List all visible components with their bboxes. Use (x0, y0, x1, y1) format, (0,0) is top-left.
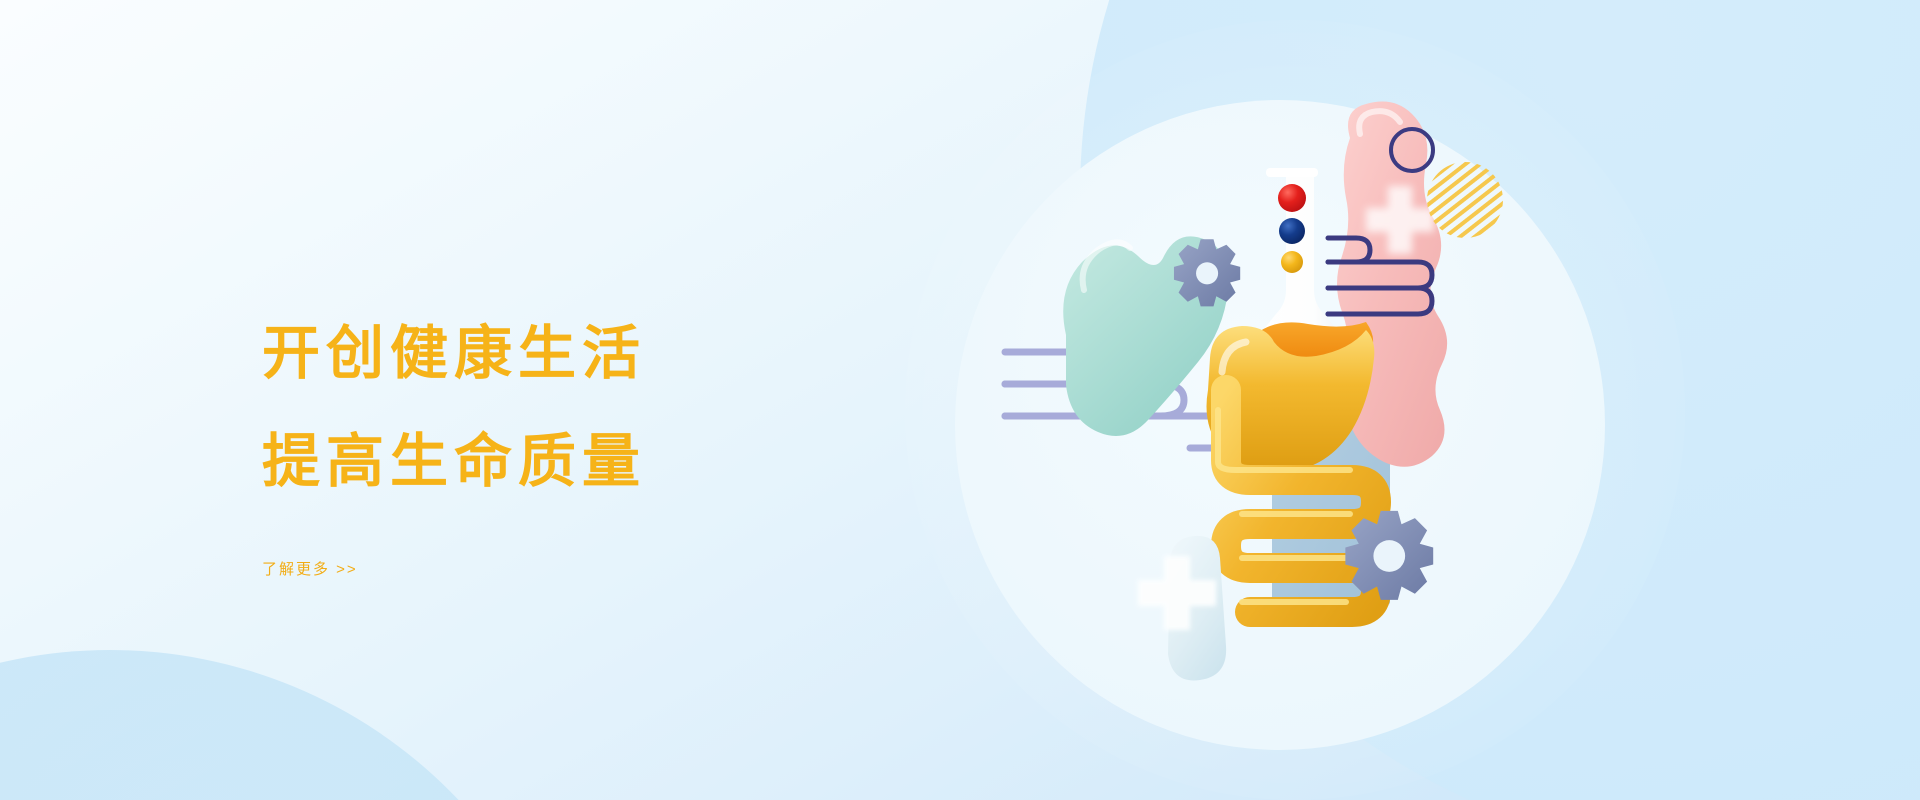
learn-more-link[interactable]: 了解更多 >> (262, 558, 358, 579)
headline-line-2: 提高生命质量 (262, 408, 882, 516)
headline-line-1: 开创健康生活 (262, 300, 882, 408)
test-tube-dot-navy-icon (1279, 218, 1305, 244)
test-tube-rim (1266, 168, 1318, 177)
banner-copy: 开创健康生活 提高生命质量 了解更多 >> (262, 300, 882, 579)
digestive-system-illustration (1060, 90, 1580, 740)
test-tube-dot-yellow-icon (1281, 251, 1303, 273)
gear-large-icon (1345, 511, 1433, 600)
striped-circle-icon (1427, 162, 1503, 238)
gear-small-icon (1174, 239, 1240, 306)
test-tube-dot-red-icon (1278, 184, 1306, 212)
hero-banner: 开创健康生活 提高生命质量 了解更多 >> (0, 0, 1920, 800)
background-circle-left (0, 650, 590, 800)
